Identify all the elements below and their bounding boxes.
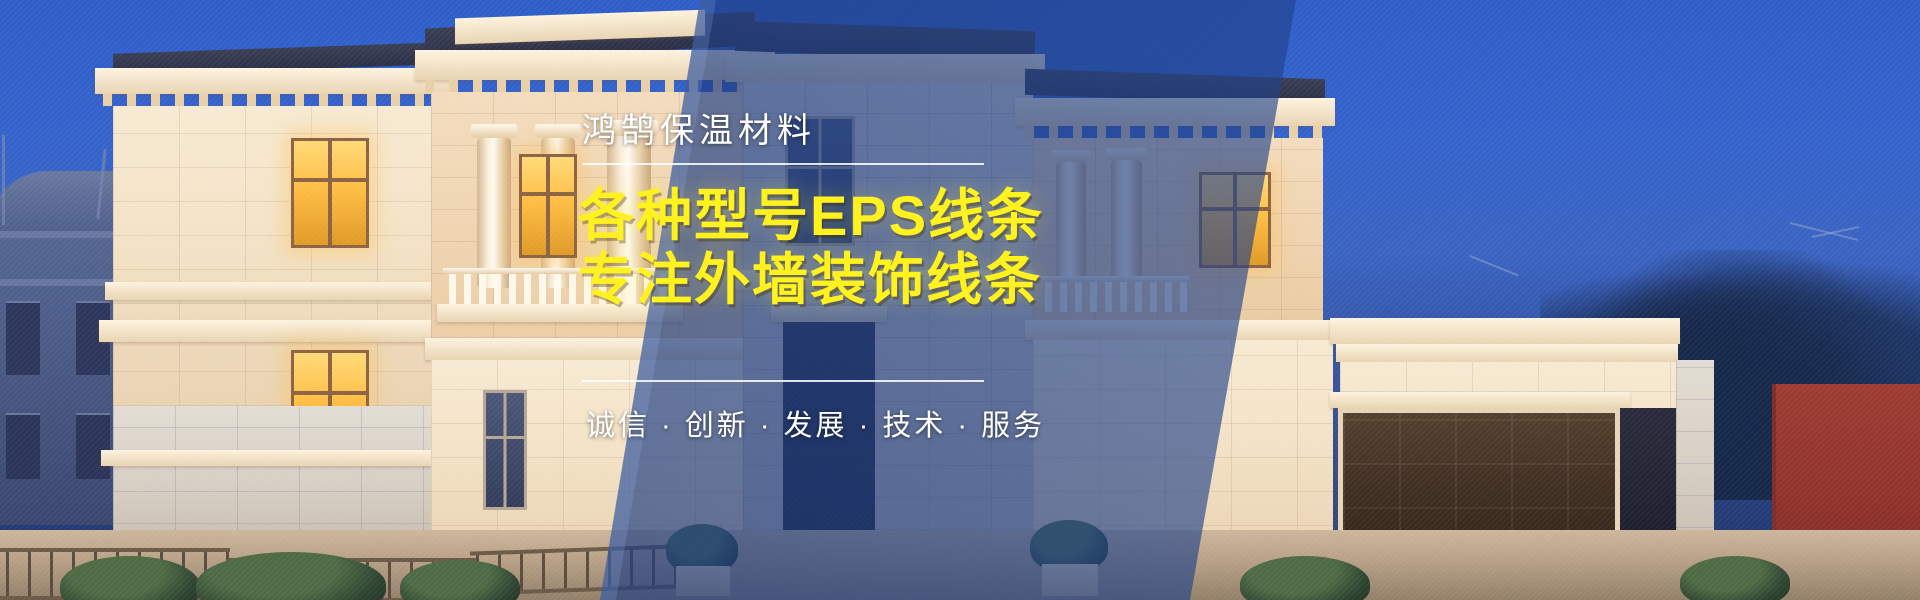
left-wing-cornice bbox=[95, 68, 455, 94]
hero-banner: 鸿鹄保温材料 各种型号EPS线条 专注外墙装饰线条 诚信 · 创新 · 发展 ·… bbox=[0, 0, 1920, 600]
left-wing-band bbox=[105, 282, 451, 300]
shrub bbox=[1680, 556, 1790, 600]
left-wing-band bbox=[99, 320, 451, 342]
left-wing-dentils bbox=[103, 94, 453, 106]
brand-name: 鸿鹄保温材料 bbox=[582, 103, 816, 152]
headline-line-1: 各种型号EPS线条 bbox=[578, 186, 1044, 246]
entry-window bbox=[483, 390, 527, 510]
divider-bottom bbox=[582, 380, 984, 382]
left-wing-sill bbox=[101, 450, 453, 466]
lit-window bbox=[291, 138, 369, 248]
divider-top bbox=[582, 163, 984, 165]
garage-lintel bbox=[1330, 392, 1630, 408]
garage-cornice-2 bbox=[1336, 344, 1678, 362]
garage-cornice bbox=[1330, 318, 1680, 344]
headline-line-2: 专注外墙装饰线条 bbox=[578, 250, 1042, 310]
column-capital bbox=[471, 124, 517, 138]
banner-copy: 鸿鹄保温材料 各种型号EPS线条 专注外墙装饰线条 诚信 · 创新 · 发展 ·… bbox=[560, 0, 1260, 600]
portico-column bbox=[477, 138, 511, 288]
tagline: 诚信 · 创新 · 发展 · 技术 · 服务 bbox=[586, 402, 1045, 444]
left-wing-wall bbox=[113, 106, 443, 406]
